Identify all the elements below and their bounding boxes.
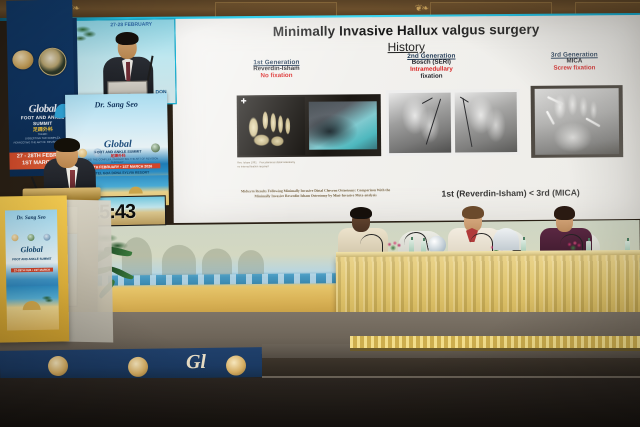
generation-2-fixation-extra: fixation [376, 73, 486, 81]
standee-badge-icon [43, 234, 50, 241]
stage-banner-medal-icon [128, 357, 148, 377]
stage-step-riser [0, 378, 640, 427]
standee-badge-icon [11, 234, 18, 241]
pip-palm-icon [75, 22, 99, 56]
stage-banner-medal-icon [226, 355, 246, 375]
ceiling-ornament-icon: ❦❧ [415, 4, 428, 13]
generation-1-image-group: ✚ [237, 94, 382, 157]
intraoperative-photo-image [309, 101, 377, 150]
crosshair-icon: ✚ [241, 99, 247, 105]
pip-backdrop-text-top: 27-28 FEBRUARY [110, 22, 152, 29]
slide-conclusion: 1st (Reverdin-Isham) < 3rd (MICA) [441, 187, 579, 198]
panelist-center-hair [462, 206, 484, 219]
standee-poster: Dr. Sang Seo Global FOOT AND ANKLE SUMMI… [5, 210, 59, 331]
generation-3-image-group [531, 85, 624, 158]
projection-screen: Minimally Invasive Hallux valgus surgery… [172, 15, 640, 223]
standee-logo-script: Global [6, 246, 58, 255]
curtain-hem [350, 348, 640, 351]
stage-step-riser [262, 358, 640, 378]
decorative-fan-object [493, 228, 519, 250]
flower-arrangement [565, 240, 583, 251]
foot-bone-model-image [239, 97, 306, 156]
slide-citation: Midterm Results Following Minimally Inva… [235, 188, 395, 200]
speaker-standee: Dr. Sang Seo Global FOOT AND ANKLE SUMMI… [0, 195, 69, 342]
kwire-icon [426, 99, 442, 145]
standee-logo-sub: FOOT AND ANKLE SUMMIT [6, 257, 58, 262]
standee-date: 27-28TH FEB • 1ST MARCH [11, 268, 53, 273]
nameboard-logo-block: Global FOOT AND ANKLE SUMMIT 足踝外科 [92, 140, 144, 160]
generation-3-fixation: Screw fixation [520, 65, 628, 73]
panelist-left-glasses-icon [354, 217, 369, 221]
standee-badge-icon [27, 234, 34, 241]
stage-banner-script: Gl [186, 351, 206, 374]
kwire-icon [460, 96, 469, 102]
flower-arrangement [385, 240, 403, 251]
xray-foot-screws-image [535, 88, 620, 155]
slide-title: Minimally Invasive Hallux valgus surgery [172, 21, 640, 40]
generation-column-3: 3rd Generation MICA Screw fixation [520, 51, 628, 73]
kwire-icon [422, 97, 433, 104]
association-emblem-icon [38, 47, 67, 76]
conference-photo-scene: ❦❧ ❦❧ Minimally Invasive Hallux valgus s… [0, 0, 640, 427]
generation-column-1: 1st Generation Reverdin-Isham No fixatio… [228, 59, 324, 81]
badge-icon-1 [78, 149, 87, 158]
sponsor-medal-icon [12, 50, 33, 69]
panelist-right-hair [554, 206, 575, 220]
standee-speaker-name: Dr. Sang Seo [5, 215, 57, 222]
speaker-name: Dr. Sang Seo [65, 99, 167, 110]
xray-kwire-lateral-image [389, 93, 452, 154]
stage-front-banner: Gl [0, 347, 262, 381]
generation-2-image-group [386, 89, 521, 156]
palm-tree-icon [40, 294, 54, 308]
generation-1-image-caption: Rev. Isham 1991 Percutaneous distal oste… [237, 160, 357, 168]
generation-1-fixation: No fixation [228, 73, 324, 81]
kwire-icon [462, 98, 472, 147]
generation-column-2: 2nd Generation Bosch (SERI) Intramedulla… [376, 52, 486, 81]
beach-umbrella-icon [23, 301, 41, 310]
pip-speaker-hair [115, 32, 138, 45]
screw-icon [585, 118, 600, 128]
stage-banner-medal-icon [48, 356, 68, 376]
pip-speaker-tie [126, 62, 130, 81]
screw-icon [546, 111, 555, 125]
beach-umbrella-icon [129, 187, 143, 194]
speaker-hair [54, 138, 80, 152]
xray-kwire-ap-image [455, 92, 518, 153]
standee-beach-art [6, 286, 59, 331]
screw-icon [547, 96, 563, 105]
badge-icon-3 [151, 143, 160, 152]
